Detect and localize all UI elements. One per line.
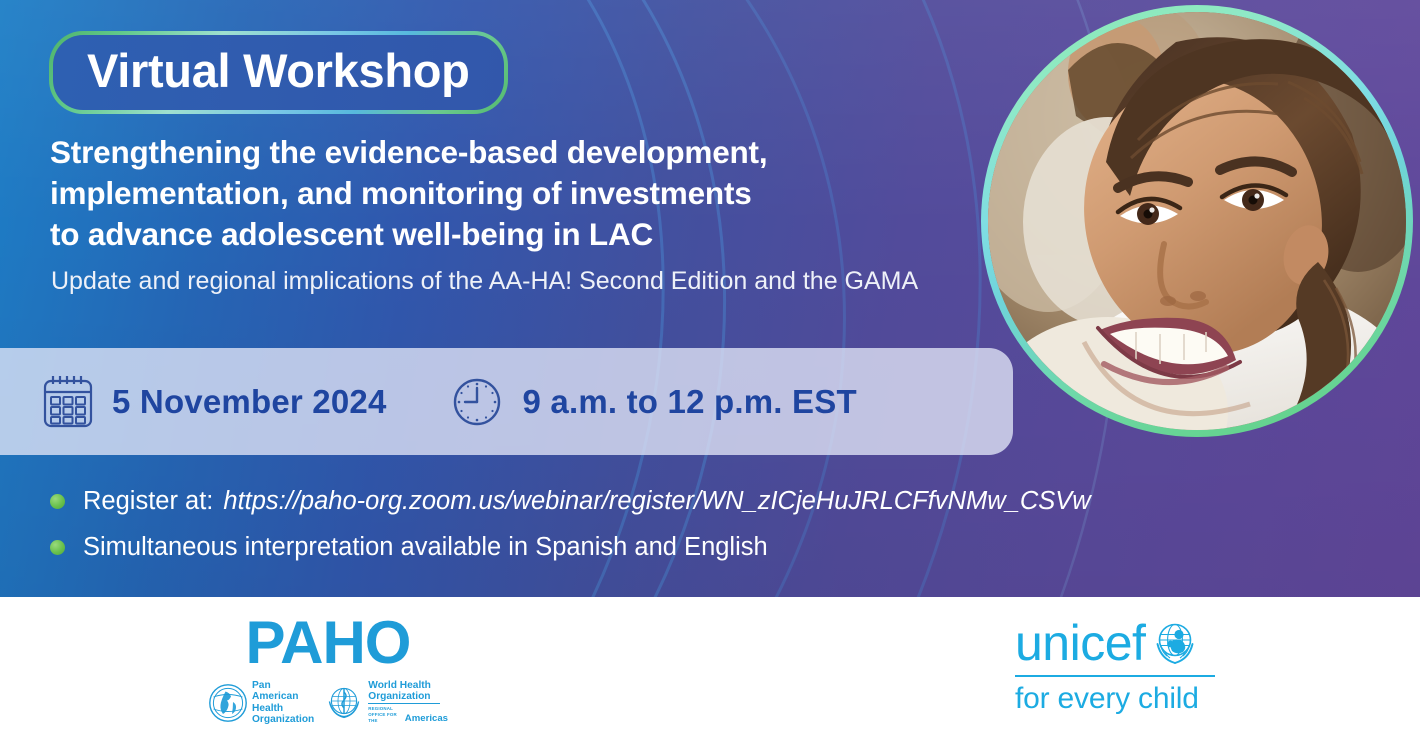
headline-line-1: Strengthening the evidence-based develop… — [50, 132, 950, 173]
info-bullets: Register at:https://paho-org.zoom.us/web… — [50, 478, 1091, 570]
paho-sublogo-text: Pan American Health Organization — [252, 680, 314, 726]
bullet-interpretation-text: Simultaneous interpretation available in… — [83, 533, 768, 562]
who-americas-label: Americas — [405, 713, 448, 724]
event-date-group: 5 November 2024 — [40, 373, 387, 431]
who-line-world-health: World Health — [368, 680, 448, 691]
paho-wordmark: PAHO — [208, 615, 448, 671]
bullet-dot-icon — [50, 540, 65, 555]
bullet-register-text: Register at:https://paho-org.zoom.us/web… — [83, 487, 1091, 516]
who-region-row: REGIONAL OFFICE FOR THE Americas — [368, 703, 448, 724]
unicef-top-row: unicef — [1015, 617, 1225, 669]
event-date-text: 5 November 2024 — [112, 383, 387, 421]
paho-line-health: Health — [252, 703, 314, 714]
event-time-text: 9 a.m. to 12 p.m. EST — [523, 383, 857, 421]
headline-line-3: to advance adolescent well-being in LAC — [50, 214, 950, 255]
badge-inner: Virtual Workshop — [53, 35, 504, 110]
bullet-interpretation: Simultaneous interpretation available in… — [50, 524, 1091, 570]
unicef-wordmark: unicef — [1015, 618, 1145, 668]
paho-logo: PAHO — [208, 615, 448, 726]
paho-emblem-block: Pan American Health Organization — [208, 680, 314, 726]
hero-section: Virtual Workshop Strengthening the evide… — [0, 0, 1420, 597]
virtual-workshop-badge: Virtual Workshop — [49, 31, 508, 114]
paho-line-organization: Organization — [252, 714, 314, 725]
who-text-lines: World Health Organization — [368, 680, 448, 703]
who-emblem-block: World Health Organization REGIONAL OFFIC… — [324, 680, 448, 724]
who-americas-row: REGIONAL OFFICE FOR THE Americas — [368, 706, 448, 724]
register-label: Register at: — [83, 487, 213, 515]
unicef-emblem-icon — [1149, 617, 1201, 669]
bullet-dot-icon — [50, 494, 65, 509]
headline-line-2: implementation, and monitoring of invest… — [50, 173, 950, 214]
bullet-register: Register at:https://paho-org.zoom.us/web… — [50, 478, 1091, 524]
who-emblem-icon — [324, 682, 364, 722]
headline: Strengthening the evidence-based develop… — [50, 132, 950, 255]
photo-ring — [981, 5, 1413, 437]
who-line-organization: Organization — [368, 691, 448, 702]
subheadline: Update and regional implications of the … — [51, 265, 918, 298]
calendar-icon — [40, 373, 96, 431]
paho-emblem-icon — [208, 683, 248, 723]
who-sublogo-text: World Health Organization REGIONAL OFFIC… — [364, 680, 448, 724]
paho-line-pan-american: Pan American — [252, 680, 314, 703]
paho-sublogos: Pan American Health Organization — [208, 680, 448, 726]
unicef-logo: unicef — [1015, 617, 1225, 717]
photo-illustration — [988, 12, 1406, 430]
who-divider — [368, 703, 440, 704]
footer-logos: PAHO — [0, 597, 1420, 746]
unicef-divider — [1015, 675, 1215, 677]
who-region-label: REGIONAL OFFICE FOR THE — [368, 706, 402, 724]
badge-label: Virtual Workshop — [87, 47, 470, 94]
event-time-group: 9 a.m. to 12 p.m. EST — [449, 373, 857, 431]
webinar-promo-banner: Virtual Workshop Strengthening the evide… — [0, 0, 1420, 746]
event-details-bar: 5 November 2024 — [0, 348, 1013, 455]
unicef-tagline: for every child — [1015, 681, 1225, 717]
register-url[interactable]: https://paho-org.zoom.us/webinar/registe… — [223, 487, 1090, 515]
clock-icon — [449, 373, 505, 431]
participant-photo — [988, 12, 1406, 430]
